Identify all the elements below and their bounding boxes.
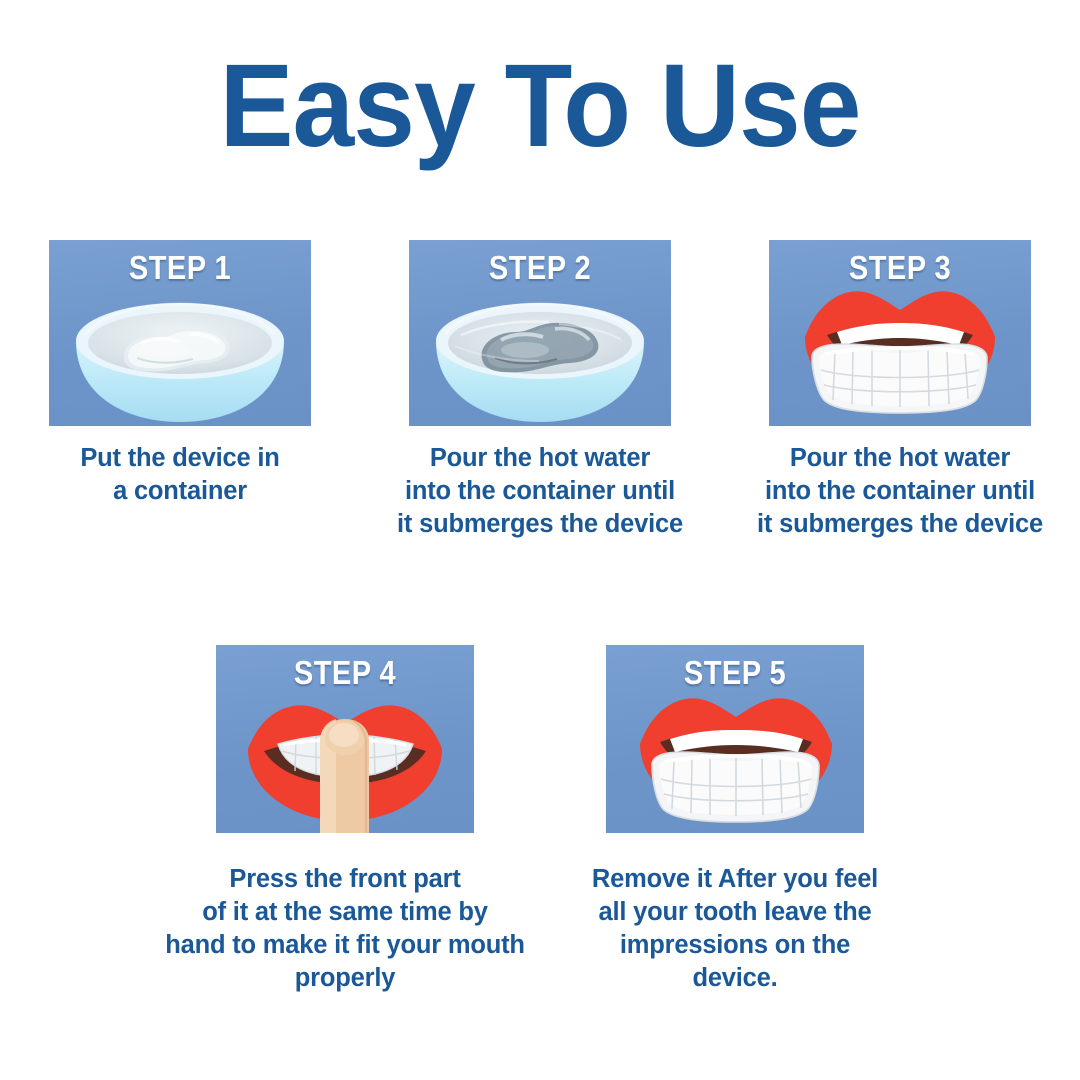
step-image-card-5: STEP 5 <box>606 645 864 833</box>
caption-line: Press the front part <box>155 863 535 896</box>
caption-line: hand to make it fit your mouth <box>155 929 535 962</box>
step-label-3: STEP 3 <box>785 249 1016 287</box>
step-caption-5: Remove it After you feel all your tooth … <box>545 863 925 996</box>
step-caption-1: Put the device in a container <box>15 442 345 508</box>
step-item-3: STEP 3 Pour the hot water into the conta… <box>720 240 1080 541</box>
caption-line: of it at the same time by <box>155 896 535 929</box>
step-label-4: STEP 4 <box>231 654 458 692</box>
caption-line: Put the device in <box>15 442 345 475</box>
step-caption-3: Pour the hot water into the container un… <box>735 442 1065 541</box>
step-image-card-3: STEP 3 <box>769 240 1031 426</box>
step-row-bottom: STEP 4 Press the front part of it at the… <box>0 645 1080 996</box>
caption-line: it submerges the device <box>375 508 705 541</box>
step-caption-2: Pour the hot water into the container un… <box>375 442 705 541</box>
caption-line: a container <box>15 475 345 508</box>
caption-line: device. <box>545 962 925 995</box>
mouthguard-device <box>652 752 819 822</box>
caption-line: impressions on the <box>545 929 925 962</box>
mouthguard-device <box>812 344 987 413</box>
step-label-2: STEP 2 <box>425 249 656 287</box>
step-image-card-4: STEP 4 <box>216 645 474 833</box>
caption-line: all your tooth leave the <box>545 896 925 929</box>
caption-line: properly <box>155 962 535 995</box>
step-item-2: STEP 2 Pour the hot water into the conta… <box>360 240 720 541</box>
caption-line: Pour the hot water <box>735 442 1065 475</box>
step-image-card-1: STEP 1 <box>49 240 311 426</box>
caption-line: into the container until <box>375 475 705 508</box>
step-item-4: STEP 4 Press the front part of it at the… <box>150 645 540 996</box>
step-label-5: STEP 5 <box>621 654 848 692</box>
finger-shape <box>320 719 369 833</box>
step-caption-4: Press the front part of it at the same t… <box>155 863 535 996</box>
caption-line: it submerges the device <box>735 508 1065 541</box>
step-item-5: STEP 5 Remove it After you feel all your… <box>540 645 930 996</box>
page-title: Easy To Use <box>32 46 1047 166</box>
caption-line: Pour the hot water <box>375 442 705 475</box>
step-label-1: STEP 1 <box>65 249 296 287</box>
step-row-top: STEP 1 Put the device in a container <box>0 240 1080 541</box>
caption-line: into the container until <box>735 475 1065 508</box>
step-item-1: STEP 1 Put the device in a container <box>0 240 360 541</box>
caption-line: Remove it After you feel <box>545 863 925 896</box>
step-image-card-2: STEP 2 <box>409 240 671 426</box>
